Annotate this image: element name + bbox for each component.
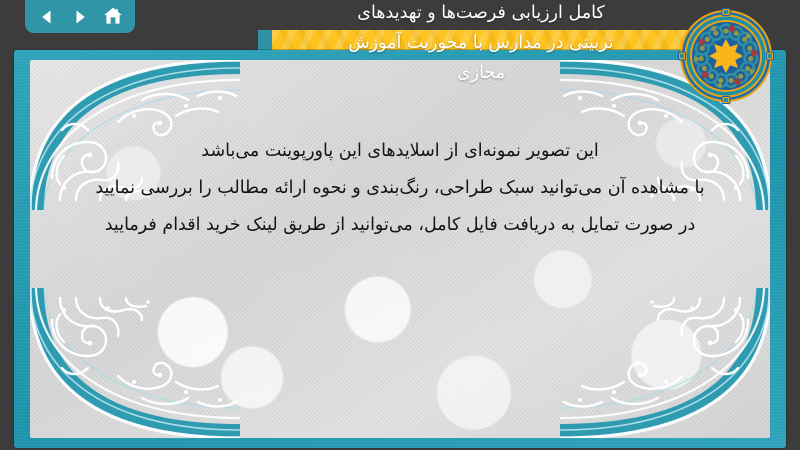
slide-canvas[interactable] xyxy=(14,50,786,448)
slide-content-area xyxy=(30,60,770,438)
triangle-right-icon xyxy=(71,8,89,26)
home-button[interactable] xyxy=(100,5,126,29)
slide-navigation-bar xyxy=(25,0,135,33)
next-slide-button[interactable] xyxy=(67,5,93,29)
triangle-left-icon xyxy=(38,8,56,26)
slide-body-line-3: در صورت تمایل به دریافت فایل کامل، می‌تو… xyxy=(40,207,760,244)
persian-medallion-ornament xyxy=(678,8,774,104)
slide-body-line-1: این تصویر نمونه‌ای از اسلایدهای این پاور… xyxy=(40,133,760,170)
home-icon xyxy=(103,7,123,26)
slide-body-line-2: با مشاهده آن می‌توانید سبک طراحی، رنگ‌بن… xyxy=(40,170,760,207)
slide-body-text: این تصویر نمونه‌ای از اسلایدهای این پاور… xyxy=(40,133,760,244)
slide-viewer: کامل ارزیابی فرصت‌ها و تهدیدهای تربیتی د… xyxy=(0,0,800,450)
previous-slide-button[interactable] xyxy=(34,5,60,29)
